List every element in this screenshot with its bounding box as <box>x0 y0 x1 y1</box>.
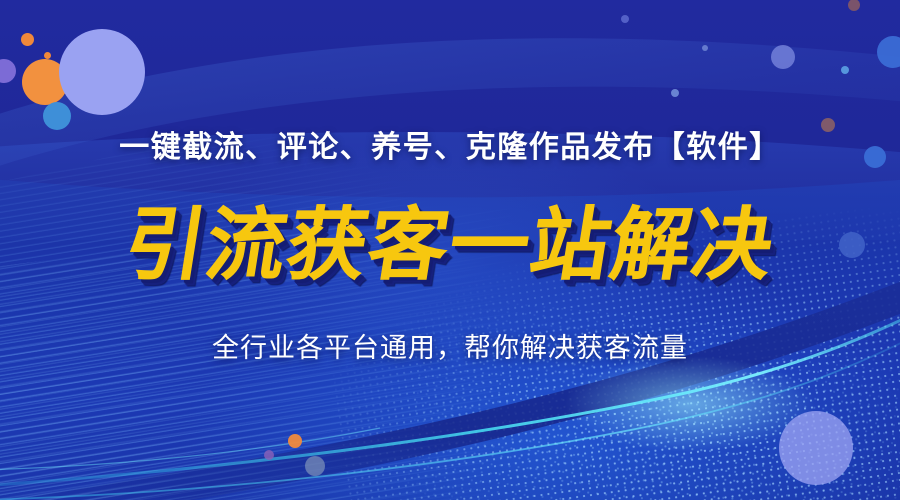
banner-eyebrow-text: 一键截流、评论、养号、克隆作品发布【软件】 <box>0 131 900 164</box>
banner-headline-wrap: 引流获客一站解决 <box>0 206 900 302</box>
orange-dot-small <box>21 33 34 46</box>
blue-dot-right-edge <box>877 36 900 68</box>
purple-dot-bottom <box>264 450 274 460</box>
promo-banner: 一键截流、评论、养号、克隆作品发布【软件】 引流获客一站解决 全行业各平台通用，… <box>0 0 900 500</box>
decorative-curves-layer <box>0 0 900 500</box>
cyan-dot-right <box>841 66 849 74</box>
banner-content: 一键截流、评论、养号、克隆作品发布【软件】 引流获客一站解决 全行业各平台通用，… <box>0 0 900 500</box>
top-arc-highlight <box>0 38 900 172</box>
purple-circle-edge <box>0 59 16 83</box>
rust-dot-topright <box>848 0 860 11</box>
cyan-sweep-bottom-left <box>0 428 380 470</box>
lavender-circle-low <box>779 411 853 485</box>
gray-dot-bottom <box>305 456 325 476</box>
cyan-sweep-main <box>0 306 900 486</box>
dot-mesh-bottom-right-second <box>396 294 900 500</box>
dot-mesh-bottom-right <box>320 198 900 500</box>
blue-dot-topcenter <box>621 15 629 23</box>
lavender-circle-big <box>59 29 145 115</box>
line-mesh-bottom-left <box>0 69 585 500</box>
rust-dot-mid <box>821 118 835 132</box>
navy-sweep-right <box>0 286 900 500</box>
background-top-cap <box>0 0 900 210</box>
banner-headline: 引流获客一站解决 <box>120 206 781 285</box>
blue-dot-topright-2 <box>671 89 679 97</box>
background-base-gradient <box>0 0 900 500</box>
blue-dot-midright <box>864 146 886 168</box>
orange-dot-tiny <box>44 52 51 59</box>
blue-dot-topright <box>702 45 708 51</box>
orange-dot-bottom <box>288 434 302 448</box>
line-mesh-bottom-left-second <box>0 203 546 500</box>
lavender-dot-right <box>771 45 795 69</box>
blue-dot-headline <box>839 232 865 258</box>
cyan-glow-blob <box>565 356 815 452</box>
banner-subline-text: 全行业各平台通用，帮你解决获客流量 <box>0 326 900 365</box>
blue-circle-small <box>43 102 71 130</box>
orange-circle-large <box>22 59 68 105</box>
background-light-arc <box>0 40 900 240</box>
background-center-glow <box>0 0 900 500</box>
cyan-sweep-lower <box>0 328 900 500</box>
